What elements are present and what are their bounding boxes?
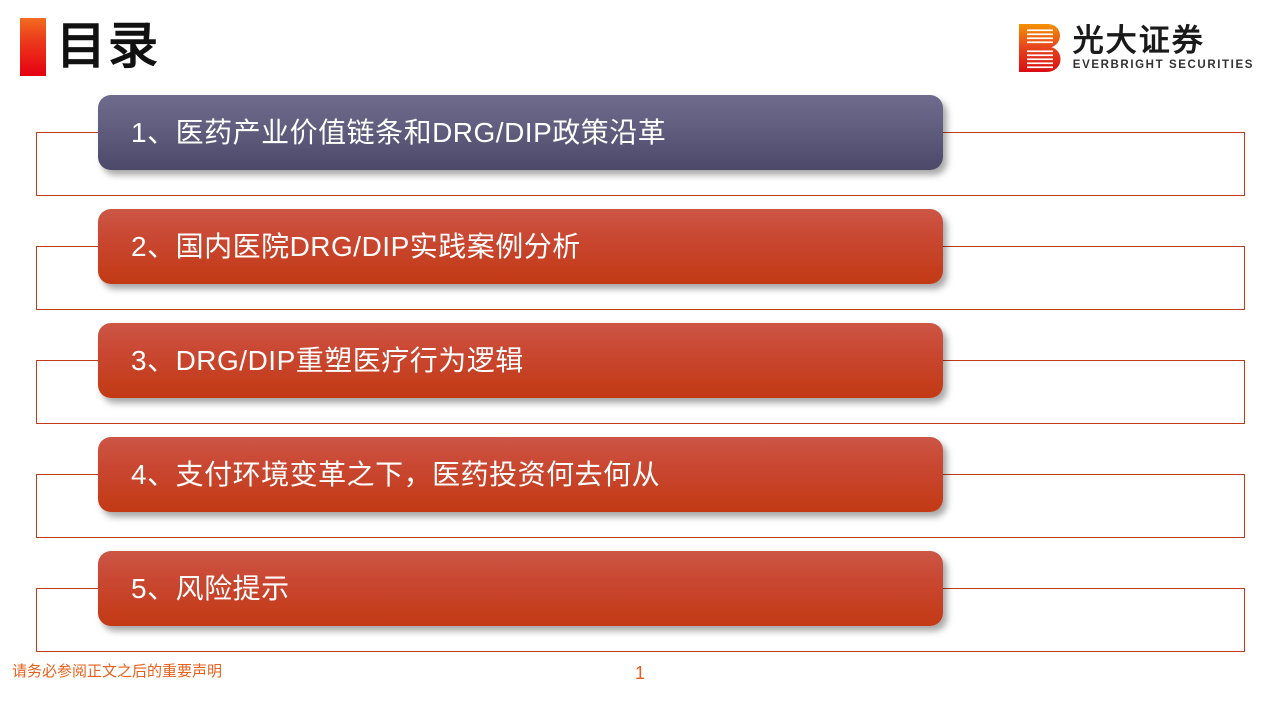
toc-item-label-1: 1、医药产业价值链条和DRG/DIP政策沿革 — [98, 116, 666, 150]
toc-row-4: 4、支付环境变革之下，医药投资何去何从 — [0, 437, 1280, 557]
toc-row-2: 2、国内医院DRG/DIP实践案例分析 — [0, 209, 1280, 329]
toc-item-2[interactable]: 2、国内医院DRG/DIP实践案例分析 — [98, 209, 943, 284]
table-of-contents: 1、医药产业价值链条和DRG/DIP政策沿革 2、国内医院DRG/DIP实践案例… — [0, 0, 1280, 720]
toc-item-3[interactable]: 3、DRG/DIP重塑医疗行为逻辑 — [98, 323, 943, 398]
toc-item-label-5: 5、风险提示 — [98, 572, 290, 606]
toc-item-4[interactable]: 4、支付环境变革之下，医药投资何去何从 — [98, 437, 943, 512]
toc-item-label-3: 3、DRG/DIP重塑医疗行为逻辑 — [98, 344, 524, 378]
toc-item-1[interactable]: 1、医药产业价值链条和DRG/DIP政策沿革 — [98, 95, 943, 170]
slide-canvas: 目录 — [0, 0, 1280, 720]
toc-row-5: 5、风险提示 — [0, 551, 1280, 671]
toc-row-3: 3、DRG/DIP重塑医疗行为逻辑 — [0, 323, 1280, 443]
toc-item-label-2: 2、国内医院DRG/DIP实践案例分析 — [98, 230, 581, 264]
page-number: 1 — [0, 662, 1280, 684]
toc-item-5[interactable]: 5、风险提示 — [98, 551, 943, 626]
toc-item-label-4: 4、支付环境变革之下，医药投资何去何从 — [98, 458, 660, 492]
toc-row-1: 1、医药产业价值链条和DRG/DIP政策沿革 — [0, 95, 1280, 215]
